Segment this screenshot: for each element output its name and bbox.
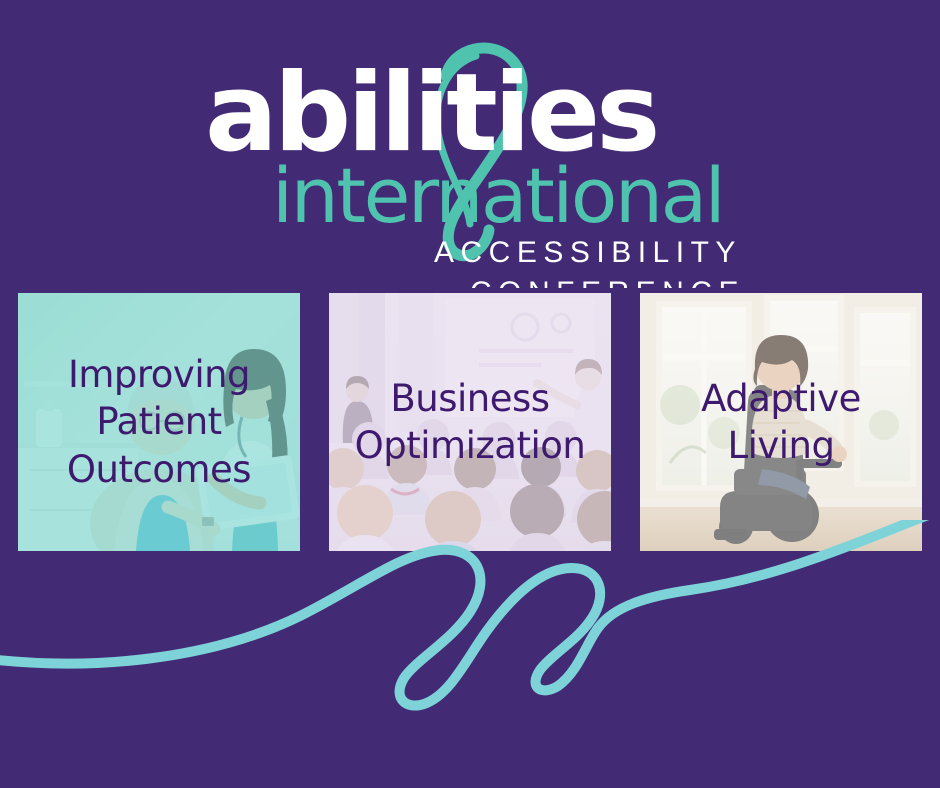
card-label-adaptive-living: Adaptive Living [640,293,922,551]
topic-card-business-optimization[interactable]: Business Optimization [329,293,611,551]
topic-card-adaptive-living[interactable]: Adaptive Living [640,293,922,551]
logo-subtitle-accessibility: ACCESSIBILITY [434,236,742,269]
logo-word-international: international [272,151,723,240]
logo-subtitle-conference: CONFERENCE [470,276,745,288]
logo-block: abilities international ACCESSIBILITY CO… [0,28,940,288]
logo-artwork: abilities international ACCESSIBILITY CO… [0,28,940,288]
conference-poster: abilities international ACCESSIBILITY CO… [0,0,940,788]
card-label-business-optimization: Business Optimization [329,293,611,551]
topic-card-improving-patient-outcomes[interactable]: Improving Patient Outcomes [18,293,300,551]
card-label-improving-patient-outcomes: Improving Patient Outcomes [18,293,300,551]
topic-card-row: Improving Patient Outcomes [18,293,922,551]
